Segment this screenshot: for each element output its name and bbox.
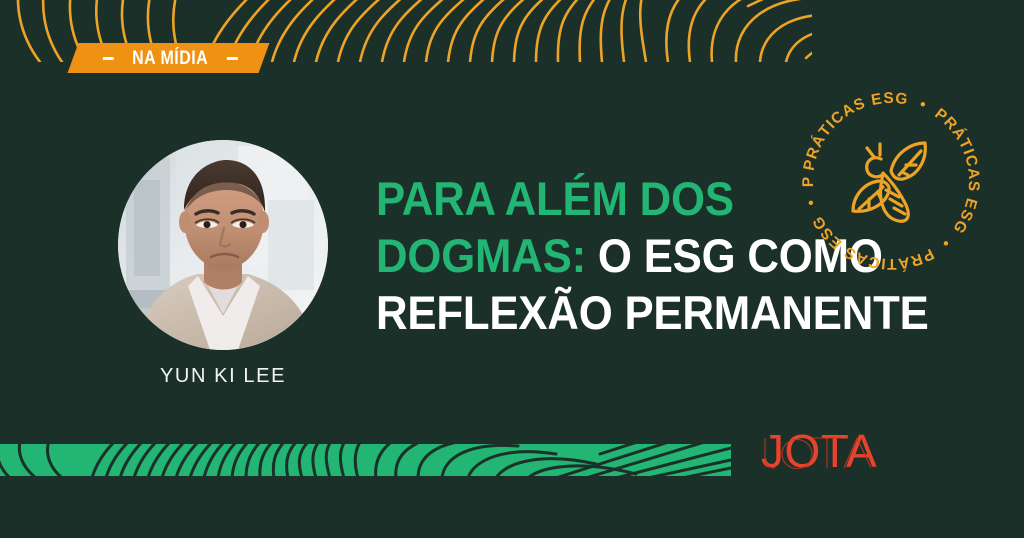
praticas-esg-seal: PRÁTICAS ESG • PRÁTICAS ESG • PRÁTICAS E… bbox=[795, 85, 987, 277]
badge-label: NA MÍDIA bbox=[132, 49, 208, 68]
headline-line-3: REFLEXÃO PERMANENTE bbox=[376, 284, 813, 341]
jota-logo[interactable]: JOTA bbox=[761, 427, 881, 479]
headline-plain-3: REFLEXÃO PERMANENTE bbox=[376, 286, 929, 339]
media-card: NA MÍDIA bbox=[0, 0, 1024, 538]
jota-logo-text: JOTA bbox=[761, 427, 877, 477]
bottom-fingerprint-band bbox=[0, 444, 731, 476]
headline-accent-1: PARA ALÉM DOS bbox=[376, 172, 734, 225]
headline: PARA ALÉM DOS DOGMAS: O ESG COMO REFLEXÃ… bbox=[376, 170, 846, 341]
author-name: YUN KI LEE bbox=[118, 365, 328, 388]
bee-leaf-icon bbox=[853, 143, 925, 221]
headline-accent-2: DOGMAS: bbox=[376, 229, 586, 282]
badge-content: NA MÍDIA bbox=[103, 49, 238, 68]
author-photo bbox=[118, 140, 328, 350]
headline-line-2: DOGMAS: O ESG COMO bbox=[376, 227, 813, 284]
portrait-image bbox=[118, 140, 328, 350]
headline-line-1: PARA ALÉM DOS bbox=[376, 170, 813, 227]
na-midia-badge[interactable]: NA MÍDIA bbox=[68, 43, 270, 73]
badge-dash-left bbox=[103, 57, 114, 60]
badge-dash-right bbox=[227, 57, 238, 60]
